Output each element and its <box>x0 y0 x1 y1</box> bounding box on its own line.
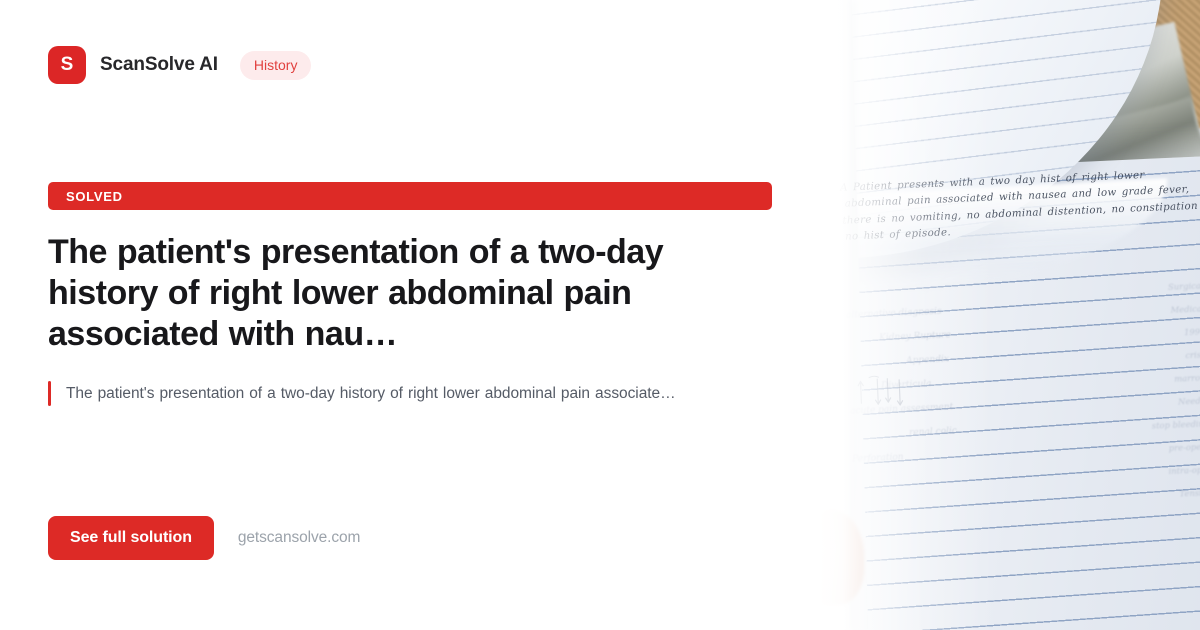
cta-row: See full solution getscansolve.com <box>48 516 772 582</box>
brand-name: ScanSolve AI <box>100 54 218 76</box>
content-spacer <box>48 406 772 516</box>
notebook-photo-inner: A Patient presents with a two day hist o… <box>818 0 1200 630</box>
content-pane: S ScanSolve AI History SOLVED The patien… <box>0 0 820 630</box>
brand-row: S ScanSolve AI History <box>48 46 772 84</box>
og-share-card: A Patient presents with a two day hist o… <box>0 0 1200 630</box>
faint-notes-right: Surgical Medical 1991 crisp marrow Needl… <box>1073 275 1200 510</box>
arrow-doodle-icon <box>855 364 941 424</box>
notebook-photo: A Patient presents with a two day hist o… <box>818 0 1200 630</box>
question-snippet: The patient's presentation of a two-day … <box>48 381 778 406</box>
snippet-accent-rule <box>48 381 51 406</box>
see-full-solution-button[interactable]: See full solution <box>48 516 214 560</box>
history-badge[interactable]: History <box>240 51 312 80</box>
page-title: The patient's presentation of a two-day … <box>48 232 778 355</box>
scansolve-logo-icon: S <box>48 46 86 84</box>
site-domain: getscansolve.com <box>238 529 360 547</box>
header-spacer <box>48 84 772 182</box>
snippet-text: The patient's presentation of a two-day … <box>66 381 676 406</box>
status-badge: SOLVED <box>66 190 123 203</box>
status-banner: SOLVED <box>48 182 772 210</box>
